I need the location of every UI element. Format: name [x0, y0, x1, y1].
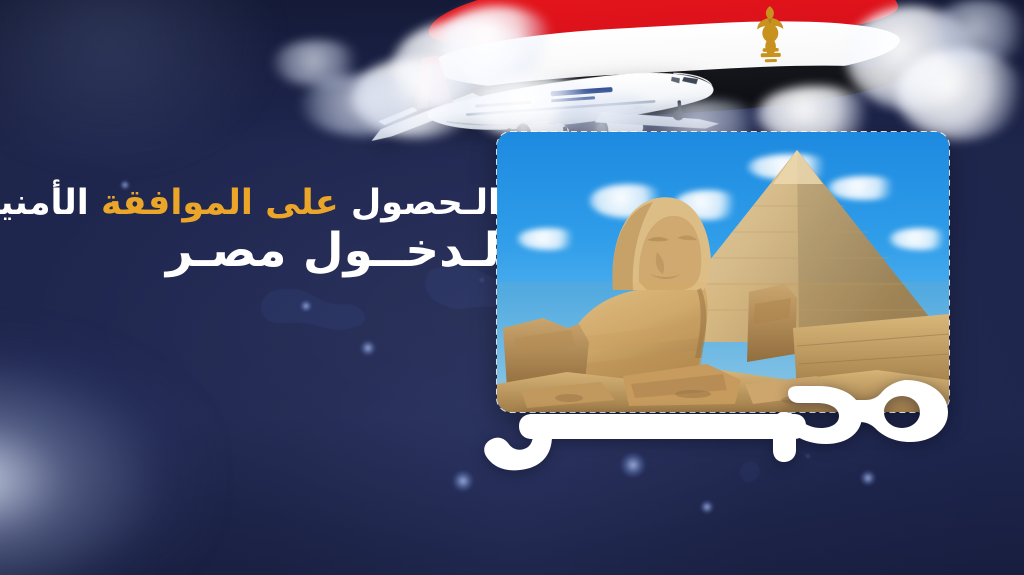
headline-word-alamniyya: الأمنية — [0, 183, 89, 223]
bokeh-sparkle — [530, 436, 542, 448]
headline-line-2: لـدخــول مصـر — [40, 227, 500, 274]
bokeh-sparkle — [360, 340, 376, 356]
headline-word-alhusul: الـحصول — [351, 183, 500, 223]
bokeh-sparkle — [700, 500, 714, 514]
bokeh-sparkle — [860, 470, 876, 486]
sphinx-and-pyramid-photo — [497, 132, 949, 412]
bokeh-sparkle — [300, 300, 312, 312]
background-glow-left — [0, 330, 210, 575]
bokeh-sparkle — [452, 470, 474, 492]
headline-line-1: الـحصول على الموافقة الأمنية — [40, 186, 500, 221]
background-glow-top — [0, 0, 280, 170]
bokeh-sparkle — [620, 452, 646, 478]
headline-word-ala-almuwafaqa: على الموافقة — [101, 183, 339, 223]
headline-block: الـحصول على الموافقة الأمنية لـدخــول مص… — [40, 186, 500, 274]
poster-canvas: الـحصول على الموافقة الأمنية لـدخــول مص… — [0, 0, 1024, 575]
